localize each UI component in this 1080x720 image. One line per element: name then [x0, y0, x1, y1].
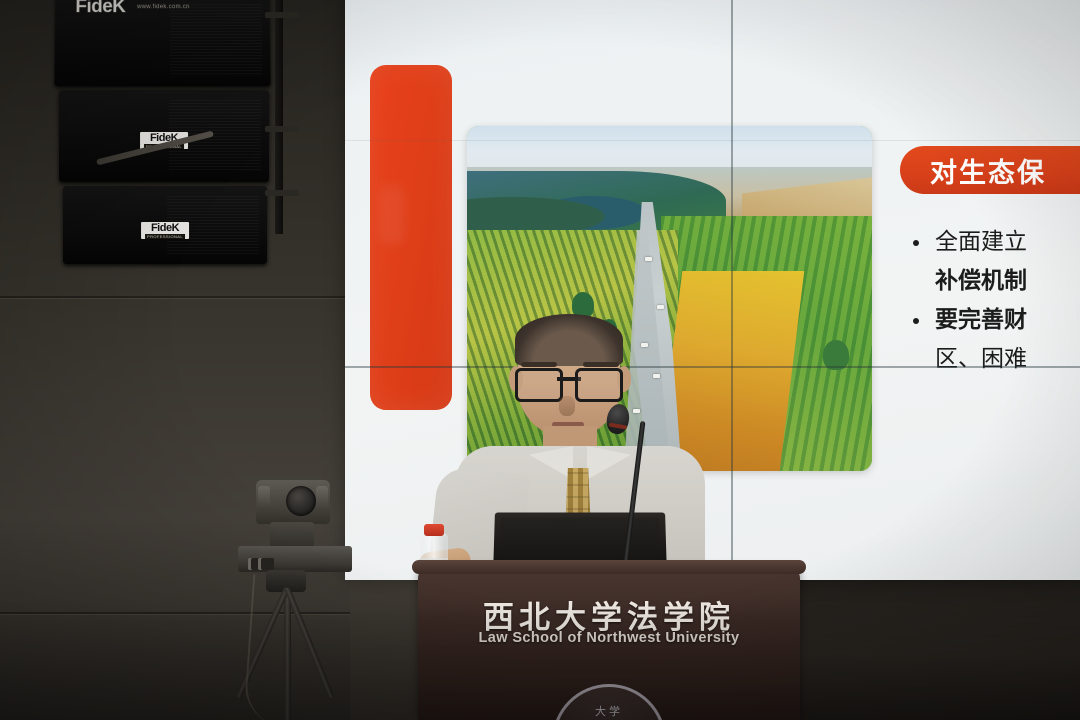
podium-institution-name-en: Law School of Northwest University — [418, 630, 800, 646]
camera-cable — [243, 574, 315, 720]
slide-bullet-line: 补偿机制 — [935, 268, 1027, 294]
slide-bullet-list: 全面建立 补偿机制 要完善财 区、困难 — [905, 223, 1080, 379]
speaker-cabinet-middle: FideK PROFESSIONAL — [59, 90, 269, 182]
wall-right-dark-section — [780, 575, 1080, 720]
speaker-bracket — [265, 126, 299, 132]
photo-scene: FideK www.fidek.com.cn FideK PROFESSIONA… — [0, 0, 1080, 720]
speaker-cabinet-bottom: FideK PROFESSIONAL — [63, 186, 267, 264]
university-emblem-text: 大学 — [555, 703, 663, 719]
slide-section-heading-pill: 对生态保 — [900, 146, 1080, 194]
camera-base-unit — [238, 546, 352, 572]
presenter-eyebrow — [583, 362, 619, 367]
photo-vehicle — [645, 257, 652, 261]
screen-panel-seam-horizontal-upper — [345, 140, 1080, 141]
slide-bullet-continuation: 区、困难 — [905, 340, 1080, 379]
camera-side-housing — [316, 486, 328, 510]
speaker-brand-text: FideK — [151, 222, 179, 234]
slide-bullet-continuation: 补偿机制 — [905, 262, 1080, 301]
screen-panel-seam-vertical — [731, 0, 733, 580]
slide-section-heading-text: 对生态保 — [930, 151, 1046, 190]
presenter-hair — [515, 314, 623, 366]
speaker-brand-subtext: PROFESSIONAL — [145, 234, 185, 239]
camera-head — [256, 480, 330, 524]
speaker-cabinet-top: FideK www.fidek.com.cn — [54, 0, 270, 86]
lectern-podium: 西北大学法学院 Law School of Northwest Universi… — [418, 568, 800, 720]
line-array-speaker-stack: FideK www.fidek.com.cn FideK PROFESSIONA… — [55, 0, 280, 244]
slide-bullet-item: 全面建立 — [905, 223, 1080, 262]
speaker-bracket — [265, 12, 299, 18]
slide-bullet-line: 要完善财 — [935, 307, 1027, 333]
photo-vehicle — [657, 305, 664, 309]
camera-lens-icon — [286, 486, 316, 516]
speaker-grille — [170, 4, 263, 76]
camera-side-housing — [258, 486, 270, 510]
eyeglasses-icon — [515, 368, 623, 398]
university-emblem: 大学 — [552, 684, 666, 720]
eyeglass-lens-right — [575, 368, 623, 402]
speaker-bracket — [265, 190, 299, 196]
presenter-eyebrow — [521, 362, 557, 367]
speaker-rigging-bar — [275, 0, 283, 234]
podium-top-edge — [412, 560, 806, 574]
slide-red-accent-panel — [370, 65, 452, 410]
camera-ports — [248, 558, 274, 570]
speaker-url-text: www.fidek.com.cn — [137, 4, 190, 10]
presenter-nose — [559, 396, 575, 416]
slide-bullet-line: 全面建立 — [935, 229, 1027, 255]
slide-bullet-item: 要完善财 — [905, 301, 1080, 340]
speaker-brand-text: FideK — [75, 0, 125, 17]
speaker-brand-logo: FideK — [75, 0, 125, 18]
wall-seam — [0, 296, 350, 298]
eyeglass-lens-left — [515, 368, 563, 402]
ptz-camera-rig — [236, 480, 376, 720]
slide-bullet-line: 区、困难 — [935, 346, 1027, 372]
water-bottle-cap — [424, 524, 444, 536]
speaker-brand-badge: FideK PROFESSIONAL — [141, 222, 189, 239]
